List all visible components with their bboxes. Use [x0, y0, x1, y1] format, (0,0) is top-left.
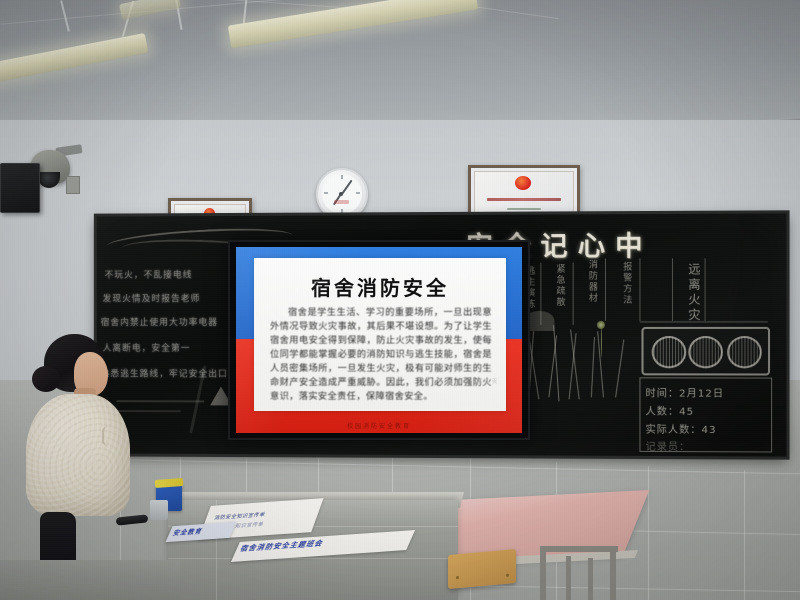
- attendance-date-row: 时间：2月12日: [646, 381, 725, 400]
- attendance-total-row: 人数：45: [646, 400, 695, 419]
- clock-center-pin: [339, 192, 343, 196]
- chalk-column: 报警方法: [621, 262, 634, 306]
- clock-brand-mark: [334, 200, 349, 204]
- chalk-line: 不玩火，不乱接电线: [105, 268, 193, 281]
- wall-mounted-display[interactable]: 宿舍消防安全 宿舍是学生生活、学习的重要场所，一旦出现意外情况导致火灾事故，其后…: [228, 240, 530, 440]
- plaque-caption-line: [487, 198, 561, 201]
- chalk-stroke: [639, 321, 768, 323]
- podium-seam: [168, 558, 458, 559]
- tile-line: [648, 466, 649, 600]
- chair-top-rail: [540, 546, 618, 552]
- presentation-slide: 宿舍消防安全 宿舍是学生生活、学习的重要场所，一旦出现意外情况导致火灾事故，其后…: [236, 247, 522, 433]
- chair-screw: [506, 574, 509, 577]
- attendance-total-label: 人数：: [646, 407, 680, 418]
- slide-footer: 校园消防安全教育: [236, 421, 522, 430]
- camera-housing: [66, 176, 80, 194]
- chalk-flower-stem: [601, 327, 602, 357]
- handout-text: 消防安全知识宣传单: [213, 511, 266, 521]
- attendance-signature-label: 记录员：: [646, 438, 691, 453]
- chalk-column: 远离火灾: [686, 262, 702, 323]
- attendance-total-value: 45: [679, 407, 694, 418]
- podium-banner-text: 宿舍消防安全主题班会: [239, 538, 326, 554]
- cup[interactable]: [150, 500, 168, 520]
- sweater-pocket: [102, 426, 128, 446]
- slide-title: 宿舍消防安全: [254, 272, 506, 301]
- chalk-line: 发现火情及时报告老师: [103, 291, 201, 304]
- chalk-column: 紧急疏散: [554, 265, 567, 309]
- podium-banner-small-text: 安全教育: [172, 526, 205, 537]
- clock-mark: [356, 192, 360, 194]
- tile-line: [744, 470, 745, 600]
- slide-content-area: 宿舍消防安全 宿舍是学生生活、学习的重要场所，一旦出现意外情况导致火灾事故，其后…: [254, 258, 506, 411]
- clock-mark: [341, 175, 343, 179]
- slide-body-text: 宿舍是学生生活、学习的重要场所，一旦出现意外情况导致火灾事故，其后果不堪设想。为…: [270, 306, 492, 404]
- attendance-present-value: 43: [702, 425, 717, 436]
- clock-mark: [341, 209, 343, 213]
- wall-clock: [316, 168, 368, 220]
- red-star-emblem-icon: [515, 176, 531, 190]
- slide-corner-note: 第 1 页: [477, 378, 498, 385]
- plaque-subcaption-line: [507, 208, 541, 210]
- chair-leg: [610, 548, 616, 600]
- teacher-hair-bun: [32, 366, 60, 392]
- chair-leg: [540, 546, 546, 600]
- chair-screw: [456, 576, 459, 579]
- clock-mark: [324, 192, 328, 194]
- chair-slat: [566, 556, 571, 600]
- attendance-present-label: 实际人数：: [646, 425, 702, 436]
- classroom-photo: 消 防 安 全 不玩火，不乱接电线 发现火情及时报告老师 宿舍内禁止使用大功率电…: [0, 0, 800, 600]
- attendance-date-value: 2月12日: [679, 388, 724, 399]
- wall-speaker: [0, 163, 40, 213]
- attendance-present-row: 实际人数：43: [646, 418, 717, 437]
- wooden-chair[interactable]: [448, 549, 516, 589]
- chalk-column: 消防器材: [587, 261, 600, 305]
- sweater-texture: [26, 394, 130, 516]
- floor: [0, 560, 180, 600]
- chalk-drawing-speaker: [641, 327, 770, 376]
- chalk-line: 宿舍内禁止使用大功率电器: [101, 315, 218, 328]
- attendance-date-label: 时间：: [646, 388, 680, 399]
- chair-slat: [588, 558, 593, 600]
